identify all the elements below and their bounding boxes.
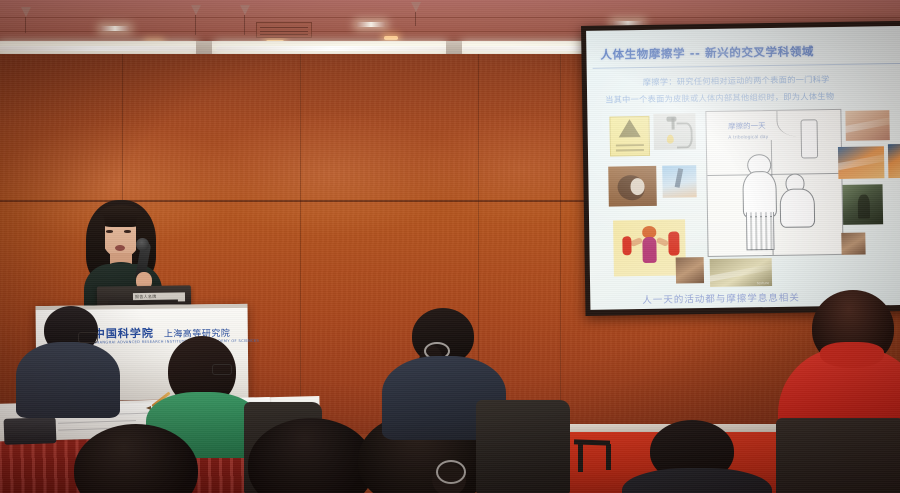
fabric-texture-photo-panel: texture xyxy=(710,258,772,287)
audience-dark-suit-right xyxy=(640,420,760,493)
cartoon-label-zh: 摩擦的一天 xyxy=(728,120,766,132)
skin-closeup-photo-panel xyxy=(841,233,865,255)
slide-title: 人体生物摩擦学 -- 新兴的交叉学科领域 xyxy=(600,42,900,63)
shoulders xyxy=(16,342,120,418)
shower-fixture-panel xyxy=(653,113,696,150)
projection-screen-frame: 人体生物摩擦学 -- 新兴的交叉学科领域 摩擦学：研究任何相对运动的两个表面的一… xyxy=(581,21,900,316)
sprinkler-head-3 xyxy=(240,5,250,15)
silhouette-photo-panel xyxy=(843,184,884,225)
small-amber-light-3 xyxy=(384,36,398,40)
lecture-hall-photo: 人体生物摩擦学 -- 新兴的交叉学科领域 摩擦学：研究任何相对运动的两个表面的一… xyxy=(0,0,900,493)
hair-tie xyxy=(436,460,466,484)
sprinkler-head-2 xyxy=(191,5,201,15)
glasses-icon xyxy=(78,332,98,343)
baby-photo-panel xyxy=(845,110,889,141)
hand-cream-photo-panel xyxy=(838,146,884,179)
projection-screen: 人体生物摩擦学 -- 新兴的交叉学科领域 摩擦学：研究任何相对运动的两个表面的一… xyxy=(586,26,900,310)
chair-back-2 xyxy=(476,400,570,493)
slide-body-line-1: 摩擦学：研究任何相对运动的两个表面的一门科学 xyxy=(643,73,830,88)
audience-foreground-left xyxy=(74,424,204,493)
hand-detail-photo-panel xyxy=(676,257,704,283)
sprinkler-head-1 xyxy=(21,7,31,17)
bathroom-cartoon-panel: 摩擦的一天 A tribological day xyxy=(705,109,843,257)
medical-injection-panel xyxy=(662,165,696,198)
slide-body-line-2: 当其中一个表面为皮肤或人体内部其他组织时，即为人体生物 xyxy=(605,90,834,106)
black-bag xyxy=(4,417,57,445)
head xyxy=(74,424,198,493)
contact-surface-photo-panel xyxy=(888,144,900,178)
glasses-icon xyxy=(212,364,232,375)
slide-caption: 人一天的活动都与摩擦学息息相关 xyxy=(642,290,800,306)
audience-front-left-seated xyxy=(16,306,126,416)
head xyxy=(248,418,374,493)
shoulders xyxy=(622,468,772,493)
recessed-strip-light-1 xyxy=(100,26,130,31)
collar xyxy=(820,342,884,368)
cartoon-label-en: A tribological day xyxy=(728,136,768,142)
skin-rubbing-panel xyxy=(608,166,657,207)
ceiling-air-vent xyxy=(256,22,312,38)
recessed-strip-light-2 xyxy=(356,22,386,27)
sprinkler-head-4 xyxy=(411,2,421,12)
slide-divider xyxy=(593,63,900,69)
slip-warning-sign-panel xyxy=(609,116,650,157)
chair-back-3 xyxy=(776,418,900,493)
